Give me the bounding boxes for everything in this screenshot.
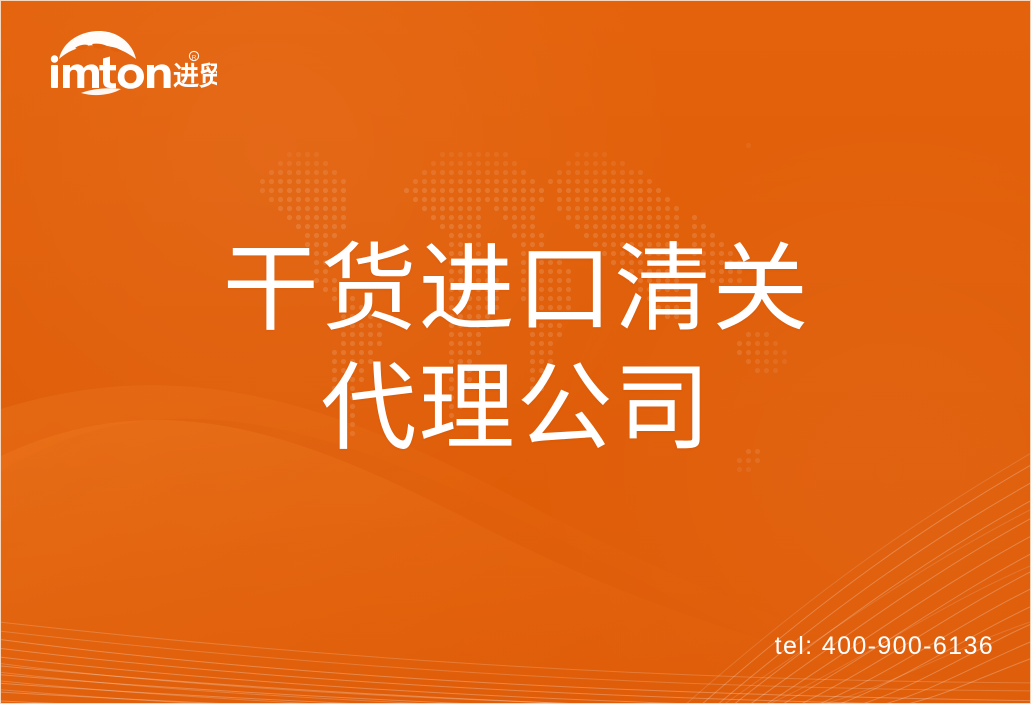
brand-logo[interactable]: 进贸通 R bbox=[37, 29, 217, 99]
background-fill bbox=[1, 1, 1030, 703]
promo-banner: 进贸通 R 干货进口清关 代理公司 tel: 400-900-6136 bbox=[0, 0, 1031, 704]
svg-text:R: R bbox=[192, 54, 197, 61]
contact-telephone[interactable]: tel: 400-900-6136 bbox=[775, 632, 994, 661]
svg-text:进贸通: 进贸通 bbox=[173, 62, 217, 92]
